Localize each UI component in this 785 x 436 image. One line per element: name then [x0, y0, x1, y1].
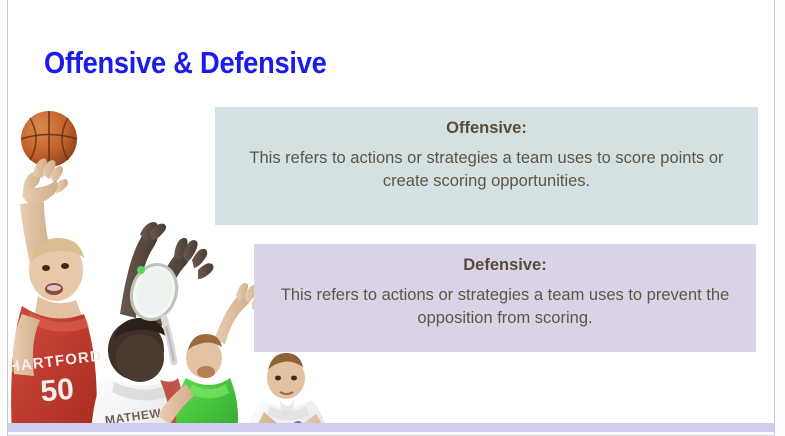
basketball-shooter-figure: HARTFORD 50: [8, 159, 103, 436]
basketball-icon: [21, 111, 77, 167]
presentation-slide: HARTFORD 50: [7, 0, 775, 436]
offensive-definition-box: Offensive: This refers to actions or str…: [215, 107, 758, 225]
offensive-body-text: This refers to actions or strategies a t…: [229, 147, 744, 194]
defensive-body-text: This refers to actions or strategies a t…: [268, 284, 742, 331]
slide-bottom-edge: [8, 432, 774, 436]
offensive-heading: Offensive:: [229, 117, 744, 141]
defensive-definition-box: Defensive: This refers to actions or str…: [254, 244, 756, 352]
jersey-number-text: 50: [39, 373, 75, 409]
slide-title: Offensive & Defensive: [44, 45, 327, 81]
screenshot-canvas: HARTFORD 50: [0, 0, 785, 436]
defensive-heading: Defensive:: [268, 254, 742, 278]
